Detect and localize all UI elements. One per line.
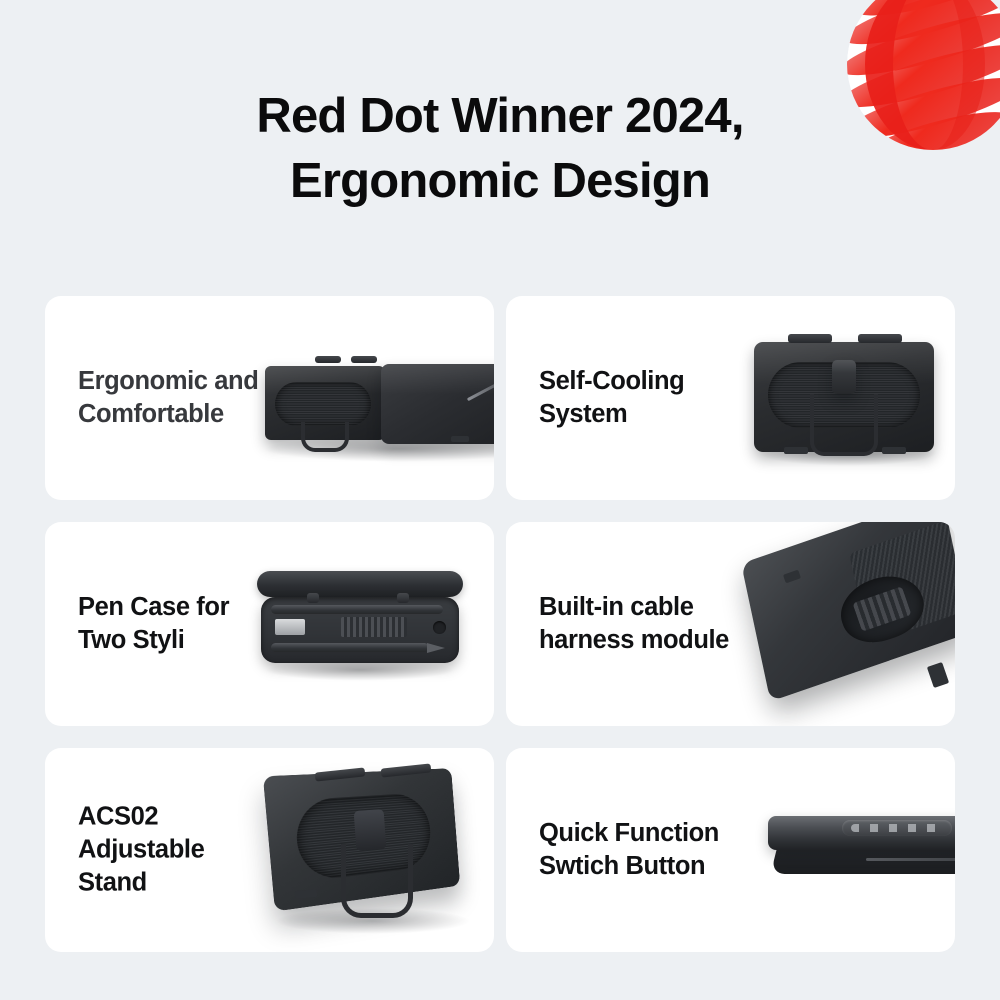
feature-card-title: Self-Cooling System (539, 365, 684, 431)
page-title: Red Dot Winner 2024, Ergonomic Design (0, 84, 1000, 213)
feature-card-title: Quick Function Swtich Button (539, 817, 719, 883)
angled-tablet-rear-cable-harness-module-image (744, 522, 955, 716)
feature-card-pen-case-two-styli[interactable]: Pen Case for Two Styli (45, 522, 494, 726)
feature-card-acs02-adjustable-stand[interactable]: ACS02 Adjustable Stand (45, 748, 494, 952)
feature-card-title: Ergonomic and Comfortable (78, 365, 258, 431)
feature-card-quick-function-switch-button[interactable]: Quick Function Swtich Button (506, 748, 955, 952)
tablet-rear-cooling-vent-with-stand-image (754, 332, 940, 468)
tablet-pair-with-stand-and-stylus-image (253, 344, 494, 464)
open-pen-case-with-two-styli-usb-and-nibs-image (257, 567, 467, 677)
feature-card-title: Pen Case for Two Styli (78, 591, 229, 657)
tablet-on-acs02-adjustable-stand-image (263, 766, 483, 938)
feature-card-title: Built-in cable harness module (539, 591, 729, 657)
page-title-line-2: Ergonomic Design (0, 149, 1000, 214)
page-title-line-1: Red Dot Winner 2024, (0, 84, 1000, 149)
feature-card-ergonomic-comfortable[interactable]: Ergonomic and Comfortable (45, 296, 494, 500)
feature-card-grid: Ergonomic and Comfortable Self-Cooling S… (45, 296, 955, 952)
tablet-side-profile-quick-function-switch-image (768, 790, 955, 900)
feature-card-built-in-cable-harness-module[interactable]: Built-in cable harness module (506, 522, 955, 726)
feature-card-self-cooling-system[interactable]: Self-Cooling System (506, 296, 955, 500)
feature-card-title: ACS02 Adjustable Stand (78, 800, 204, 899)
